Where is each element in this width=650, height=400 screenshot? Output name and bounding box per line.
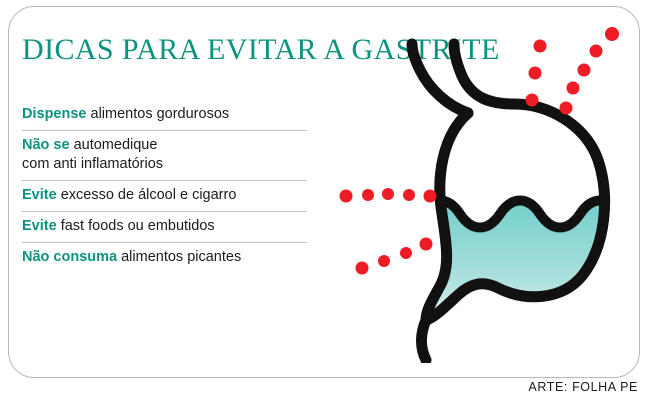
tip-lead: Não consuma	[22, 249, 117, 265]
tip-rest: alimentos gordurosos	[86, 106, 229, 122]
stomach-illustration	[330, 18, 640, 363]
list-item: Evite excesso de álcool e cigarro	[22, 181, 314, 211]
duodenum-curve	[422, 320, 427, 360]
tip-lead: Evite	[22, 187, 57, 203]
tip-lead: Dispense	[22, 106, 86, 122]
esophagus-inner-curve	[454, 44, 514, 104]
list-item: Evite fast foods ou embutidos	[22, 212, 314, 242]
infographic-root: DICAS PARA EVITAR A GASTRITE Dispense al…	[0, 0, 650, 400]
pain-dots-left-horizontal-cluster	[340, 188, 437, 203]
tip-lead: Não se	[22, 137, 70, 153]
artwork-credit: ARTE: FOLHA PE	[528, 380, 638, 394]
tips-list: Dispense alimentos gordurosos Não se aut…	[22, 100, 314, 273]
tip-rest: excesso de álcool e cigarro	[57, 187, 237, 203]
tip-lead: Evite	[22, 218, 57, 234]
tip-rest: fast foods ou embutidos	[57, 218, 215, 234]
pain-dots-left-lower-cluster	[356, 238, 433, 275]
list-item: Não consuma alimentos picantes	[22, 243, 314, 273]
tip-line: Não se automedique com anti inflamatório…	[22, 131, 314, 180]
pain-dots-top-right-cluster	[560, 27, 620, 115]
tip-line: Dispense alimentos gordurosos	[22, 100, 314, 130]
tip-line: Evite fast foods ou embutidos	[22, 212, 314, 242]
tip-rest: alimentos picantes	[117, 249, 241, 265]
list-item: Dispense alimentos gordurosos	[22, 100, 314, 130]
tip-line: Não consuma alimentos picantes	[22, 243, 314, 273]
list-item: Não se automedique com anti inflamatório…	[22, 131, 314, 180]
pain-dots-top-left-cluster	[526, 40, 547, 107]
tip-line: Evite excesso de álcool e cigarro	[22, 181, 314, 211]
